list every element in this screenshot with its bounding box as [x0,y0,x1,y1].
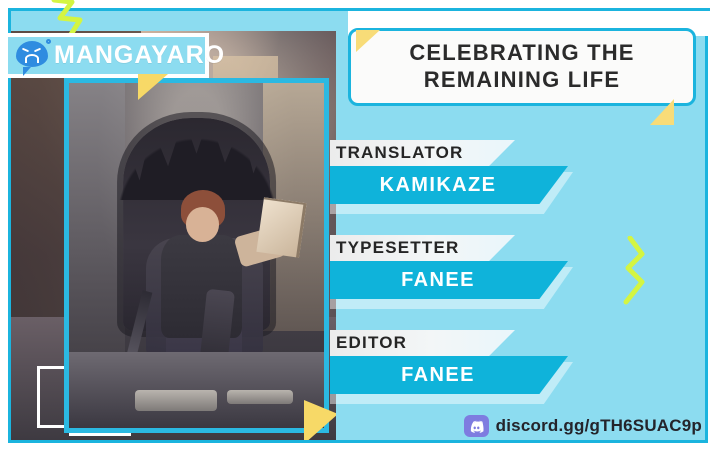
scanlator-logo[interactable]: MANGAYARO [4,33,209,78]
artwork-illustration [69,83,324,428]
top-border-rule [345,8,710,11]
discord-invite-text: discord.gg/gTH6SUAC9p [496,416,702,436]
chapter-title-card: CELEBRATING THE REMAINING LIFE [348,28,696,106]
credit-name-banner: KAMIKAZE [330,166,568,204]
credit-row: TRANSLATOR KAMIKAZE [330,140,630,235]
credit-role-label: EDITOR [336,333,407,353]
credits-page: MANGAYARO CELEBRATING THE REMAINING LIFE… [0,0,720,455]
zigzag-squiggle-right [620,236,652,306]
credit-row: TYPESETTER FANEE [330,235,630,330]
credit-name-banner: FANEE [330,356,568,394]
artwork-inner-frame [64,78,329,433]
discord-invite[interactable]: discord.gg/gTH6SUAC9p [464,413,702,439]
credit-role-label: TRANSLATOR [336,143,464,163]
credits-list: TRANSLATOR KAMIKAZE TYPESETTER FANEE EDI… [330,140,630,425]
yellow-triangle-title-bottomright-icon [650,99,674,125]
sad-speech-bubble-icon [16,41,50,71]
artwork-panel [11,31,336,440]
credit-name-label: KAMIKAZE [380,174,497,197]
illustration-head [186,207,219,242]
credit-role-banner: TRANSLATOR [330,140,515,166]
credit-role-label: TYPESETTER [336,238,459,258]
discord-icon [464,415,489,437]
credit-role-banner: EDITOR [330,330,515,356]
illustration-scroll-secondary [227,390,293,404]
credit-name-label: FANEE [401,269,475,292]
page-title: CELEBRATING THE REMAINING LIFE [409,40,634,94]
yellow-triangle-title-topleft-icon [356,30,380,52]
yellow-play-triangle-icon [138,74,168,100]
illustration-book [257,198,308,259]
credit-role-banner: TYPESETTER [330,235,515,261]
credit-name-label: FANEE [401,364,475,387]
scanlator-logo-text: MANGAYARO [54,43,225,68]
credit-row: EDITOR FANEE [330,330,630,425]
illustration-wall-left [69,83,125,352]
credit-name-banner: FANEE [330,261,568,299]
illustration-scroll [135,390,217,411]
